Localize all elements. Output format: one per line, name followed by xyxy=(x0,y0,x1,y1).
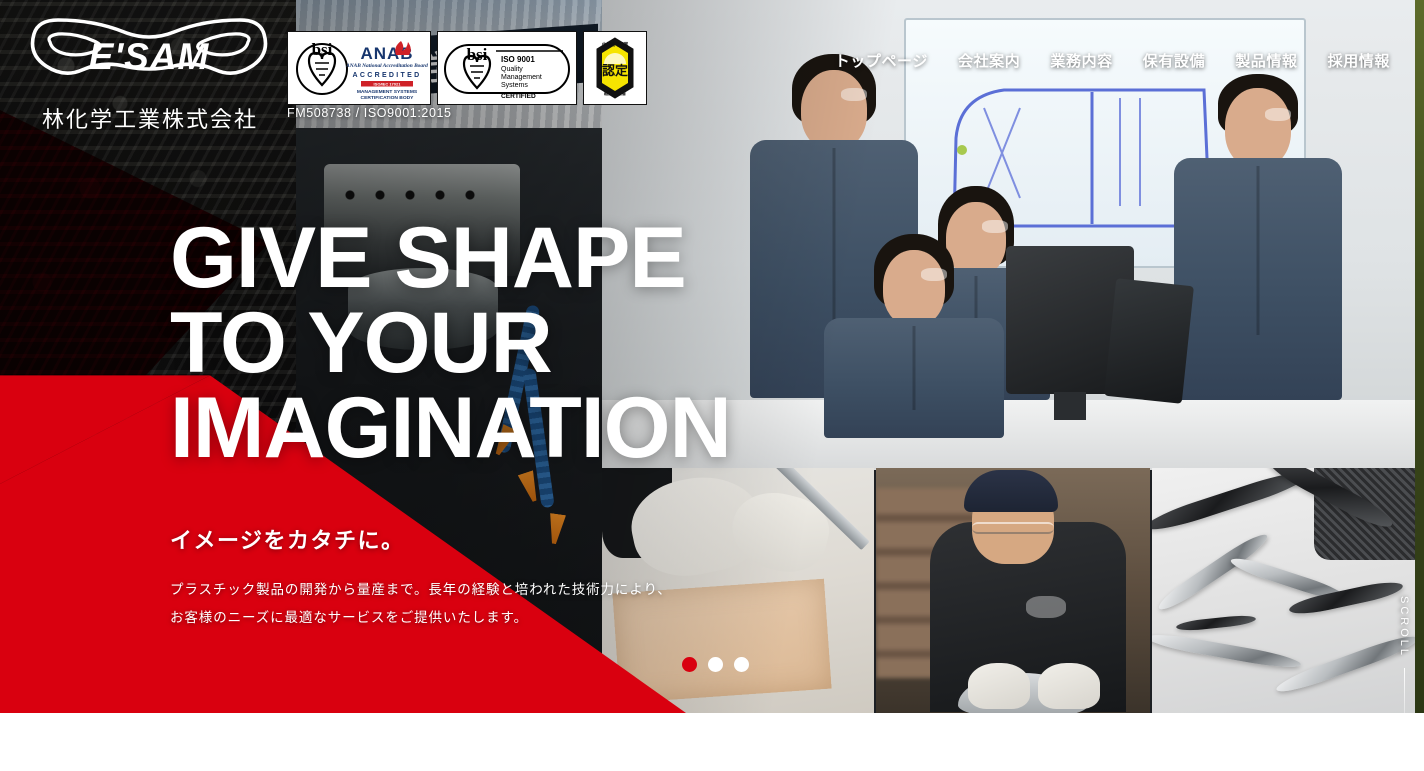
employee-3-seated xyxy=(824,238,1004,438)
badge-bsi-iso9001: bsi ISO 9001 Quality Management Systems … xyxy=(437,31,577,105)
esam-wordmark: E'SAM xyxy=(89,36,210,77)
carousel-dots[interactable] xyxy=(682,657,749,672)
svg-text:ANAB National Accreditation Bo: ANAB National Accreditation Board xyxy=(345,63,428,69)
svg-text:Systems: Systems xyxy=(501,82,528,89)
trim-part-6 xyxy=(1152,631,1302,672)
headline-line-1: GIVE SHAPE xyxy=(170,216,731,301)
certification-code: FM508738 / ISO9001:2015 xyxy=(287,106,452,120)
svg-text:認定: 認定 xyxy=(602,63,628,79)
svg-text:ISO/IEC 17021: ISO/IEC 17021 xyxy=(374,81,402,86)
svg-text:中構法市事業: 中構法市事業 xyxy=(602,41,629,48)
uniform-logo xyxy=(1026,596,1066,618)
photo-auto-parts xyxy=(1152,468,1424,713)
nav-item-top[interactable]: トップページ xyxy=(835,50,928,71)
headline-line-2: TO YOUR xyxy=(170,301,731,386)
hero-lead: イメージをカタチに。 xyxy=(170,523,731,555)
certification-badges: bsi ANAB ANAB National Accreditation Boa… xyxy=(287,31,647,105)
svg-text:CERTIFIED: CERTIFIED xyxy=(501,93,536,100)
desc-line-1: プラスチック製品の開発から量産まで。長年の経験と培われた技術力により、 xyxy=(170,577,731,605)
trim-part-8 xyxy=(1176,614,1257,632)
svg-text:ISO 9001: ISO 9001 xyxy=(501,55,535,64)
nav-item-recruit[interactable]: 採用情報 xyxy=(1328,50,1390,71)
photo-craftsman xyxy=(876,468,1150,713)
svg-text:CERTIFICATION BODY: CERTIFICATION BODY xyxy=(361,95,415,101)
craftsman-cap xyxy=(964,470,1058,512)
carousel-dot-1[interactable] xyxy=(682,657,697,672)
nav-item-business[interactable]: 業務内容 xyxy=(1050,50,1112,71)
desc-line-2: お客様のニーズに最適なサービスをご提供いたします。 xyxy=(170,605,731,633)
brand-block[interactable]: E'SAM 林化学工業株式会社 xyxy=(24,14,276,134)
page-root: 林化学工業 xyxy=(0,0,1424,771)
page-body-below-fold xyxy=(0,713,1424,771)
esam-swoosh-logo-icon: E'SAM xyxy=(24,14,274,100)
svg-text:Management: Management xyxy=(501,74,542,81)
employee-4 xyxy=(1174,78,1342,400)
nav-item-company[interactable]: 会社案内 xyxy=(958,50,1020,71)
scroll-label: SCROLL xyxy=(1398,596,1410,658)
badge-bsi-anab: bsi ANAB ANAB National Accreditation Boa… xyxy=(287,31,431,105)
headline-line-3: IMAGINATION xyxy=(170,386,731,471)
craftsman-hand-right xyxy=(1038,663,1100,709)
company-name: 林化学工業株式会社 xyxy=(24,102,276,134)
main-navigation[interactable]: トップページ 会社案内 業務内容 保有設備 製品情報 採用情報 xyxy=(835,50,1390,71)
scroll-line xyxy=(1404,668,1405,713)
desk-monitor-2 xyxy=(1104,278,1194,404)
hero-headline: GIVE SHAPE TO YOUR IMAGINATION xyxy=(170,216,731,471)
next-slide-edge xyxy=(1415,0,1424,713)
svg-text:経済産業省: 経済産業省 xyxy=(603,90,627,97)
safety-glasses-icon xyxy=(972,522,1054,534)
svg-text:ACCREDITED: ACCREDITED xyxy=(353,72,422,79)
svg-text:Quality: Quality xyxy=(501,66,523,73)
carousel-dot-3[interactable] xyxy=(734,657,749,672)
hero-description: プラスチック製品の開発から量産まで。長年の経験と培われた技術力により、 お客様の… xyxy=(170,577,731,632)
svg-text:MANAGEMENT SYSTEMS: MANAGEMENT SYSTEMS xyxy=(357,89,418,95)
craftsman-hand-left xyxy=(968,663,1030,709)
nav-item-products[interactable]: 製品情報 xyxy=(1235,50,1297,71)
carousel-dot-2[interactable] xyxy=(708,657,723,672)
scroll-indicator[interactable]: SCROLL xyxy=(1398,596,1410,713)
hero-copy: GIVE SHAPE TO YOUR IMAGINATION イメージをカタチに… xyxy=(170,216,731,633)
badge-nintei: 中構法市事業 認定 経済産業省 xyxy=(583,31,647,105)
nav-item-equipment[interactable]: 保有設備 xyxy=(1143,50,1205,71)
hero-section: 林化学工業 xyxy=(0,0,1424,713)
